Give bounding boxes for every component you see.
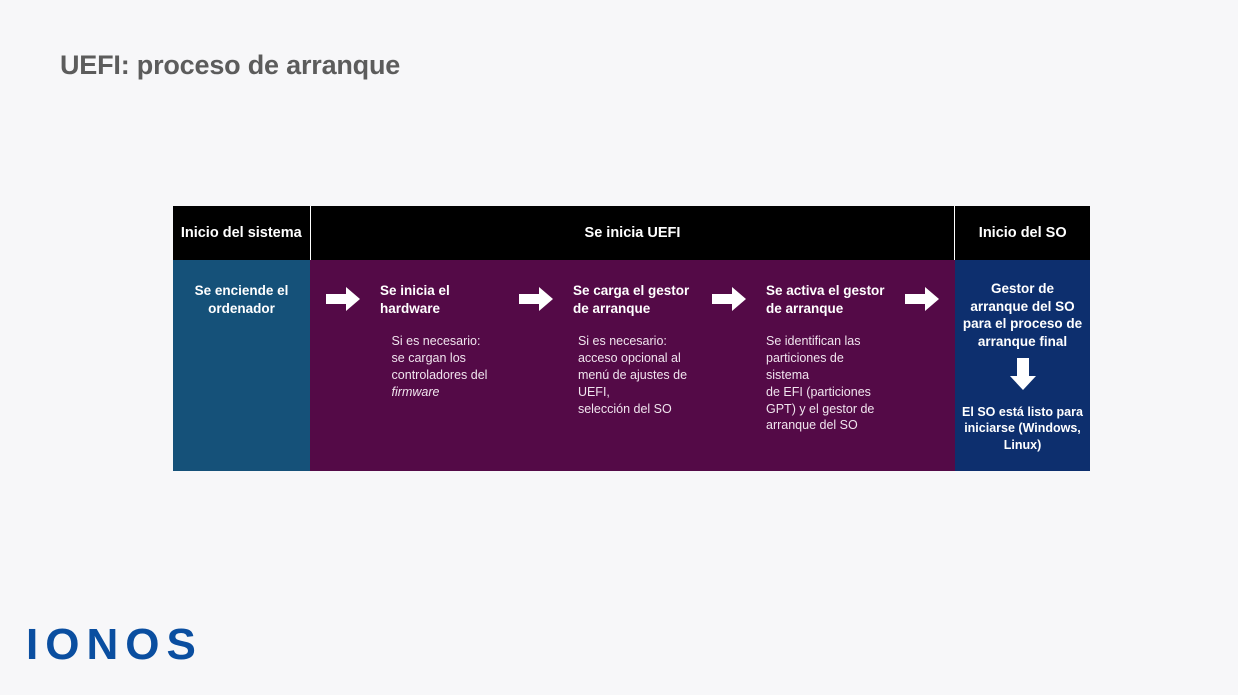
phase-header-uefi-start: Se inicia UEFI	[311, 206, 954, 260]
uefi-step-3-desc-line-1: Se identifican las	[766, 334, 861, 348]
uefi-step-2-desc-line-5: selección del SO	[578, 402, 672, 416]
uefi-step-1-title: Se inicia el hardware	[380, 282, 499, 317]
uefi-step-1-desc-line-2: se cargan los	[392, 351, 466, 365]
uefi-boot-process-diagram: Inicio del sistema Se inicia UEFI Inicio…	[173, 206, 1090, 471]
uefi-step-3-desc-line-2: particiones de sistema	[766, 351, 844, 382]
phase-header-system-start: Inicio del sistema	[173, 206, 310, 260]
stage-os-start: Gestor de arranque del SO para el proces…	[955, 260, 1090, 471]
uefi-step-3-title: Se activa el gestor de arranque	[766, 282, 885, 317]
arrow-right-icon	[905, 287, 939, 311]
stage-os-start-title: Gestor de arranque del SO para el proces…	[955, 280, 1090, 350]
arrow-right-icon	[326, 287, 360, 311]
stage-power-on-title: Se enciende el ordenador	[173, 282, 310, 317]
stage-os-start-desc: El SO está listo para iniciarse (Windows…	[955, 404, 1090, 453]
uefi-step-1-desc: Si es necesario: se cargan los controlad…	[392, 333, 488, 401]
uefi-step-2-desc-line-3: menú de ajustes de	[578, 368, 687, 382]
uefi-step-1-desc-line-3: controladores del	[392, 368, 488, 382]
arrow-right-icon	[519, 287, 553, 311]
phase-header-os-start: Inicio del SO	[955, 206, 1090, 260]
down-arrow-cell	[1010, 358, 1036, 390]
arrow-down-icon	[1010, 358, 1036, 390]
arrow-cell-4	[889, 260, 955, 311]
uefi-step-1-desc-line-1: Si es necesario:	[392, 334, 481, 348]
diagram-header-band: Inicio del sistema Se inicia UEFI Inicio…	[173, 206, 1090, 260]
arrow-right-icon	[712, 287, 746, 311]
uefi-step-2-desc-line-2: acceso opcional al	[578, 351, 681, 365]
arrow-cell-1	[310, 260, 376, 311]
uefi-step-3: Se activa el gestor de arranque Se ident…	[762, 260, 889, 434]
slide-canvas: UEFI: proceso de arranque Inicio del sis…	[0, 0, 1238, 695]
stage-power-on: Se enciende el ordenador	[173, 260, 310, 471]
ionos-logo: IONOS	[26, 620, 203, 670]
stage-uefi: Se inicia el hardware Si es necesario: s…	[310, 260, 955, 471]
diagram-body-band: Se enciende el ordenador Se inicia el ha…	[173, 260, 1090, 471]
uefi-step-3-desc: Se identifican las particiones de sistem…	[766, 333, 885, 434]
uefi-step-2-title: Se carga el gestor de arranque	[573, 282, 692, 317]
uefi-step-1-desc-italic: firmware	[392, 385, 440, 399]
page-title: UEFI: proceso de arranque	[60, 50, 400, 81]
uefi-step-2-desc-line-1: Si es necesario:	[578, 334, 667, 348]
arrow-cell-3	[696, 260, 762, 311]
uefi-step-3-desc-line-4: GPT) y el gestor de	[766, 402, 874, 416]
arrow-cell-2	[503, 260, 569, 311]
uefi-step-1: Se inicia el hardware Si es necesario: s…	[376, 260, 503, 401]
uefi-step-2-desc: Si es necesario: acceso opcional al menú…	[578, 333, 687, 417]
uefi-step-3-desc-line-3: de EFI (particiones	[766, 385, 871, 399]
uefi-step-2-desc-line-4: UEFI,	[578, 385, 610, 399]
uefi-step-2: Se carga el gestor de arranque Si es nec…	[569, 260, 696, 417]
uefi-step-3-desc-line-5: arranque del SO	[766, 418, 858, 432]
